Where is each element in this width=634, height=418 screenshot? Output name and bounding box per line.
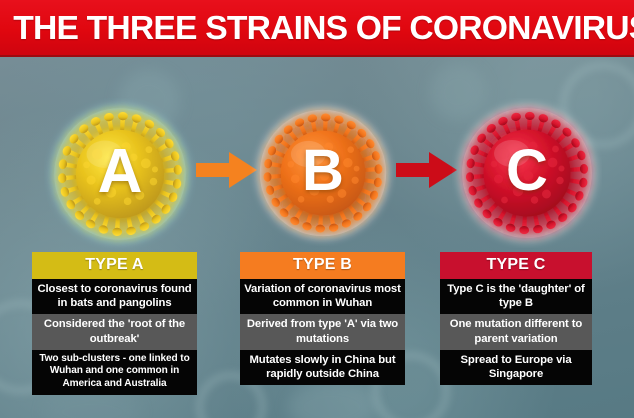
arrow-b-to-c (396, 150, 458, 190)
info-panel-type-b: TYPE B Variation of coronavirus most com… (240, 252, 405, 385)
panel-row: One mutation different to parent variati… (440, 314, 592, 349)
virus-particle-b: B (250, 100, 396, 242)
panel-header-type-b: TYPE B (240, 252, 405, 279)
virus-particle-a: A (44, 98, 196, 246)
info-panel-type-c: TYPE C Type C is the 'daughter' of type … (440, 252, 592, 385)
panel-row: Type C is the 'daughter' of type B (440, 279, 592, 314)
title-banner: THE THREE STRAINS OF CORONAVIRUS (0, 0, 634, 57)
panel-rows-type-b: Variation of coronavirus most common in … (240, 279, 405, 385)
panel-rows-type-c: Type C is the 'daughter' of type B One m… (440, 279, 592, 385)
arrow-a-to-b (196, 150, 258, 190)
panel-row: Considered the 'root of the outbreak' (32, 314, 197, 349)
panel-row: Variation of coronavirus most common in … (240, 279, 405, 314)
panel-row: Derived from type 'A' via two mutations (240, 314, 405, 349)
panel-row: Two sub-clusters - one linked to Wuhan a… (32, 350, 197, 395)
panel-row: Spread to Europe via Singapore (440, 350, 592, 385)
panel-row: Mutates slowly in China but rapidly outs… (240, 350, 405, 385)
panel-rows-type-a: Closest to coronavirus found in bats and… (32, 279, 197, 395)
panel-header-type-a: TYPE A (32, 252, 197, 279)
panel-header-type-c: TYPE C (440, 252, 592, 279)
page-title: THE THREE STRAINS OF CORONAVIRUS (0, 9, 634, 47)
panel-row: Closest to coronavirus found in bats and… (32, 279, 197, 314)
infographic-canvas: THE THREE STRAINS OF CORONAVIRUS A B C T… (0, 0, 634, 418)
virus-particle-c: C (452, 98, 602, 244)
bg-virus-blob (288, 382, 376, 418)
info-panel-type-a: TYPE A Closest to coronavirus found in b… (32, 252, 197, 395)
